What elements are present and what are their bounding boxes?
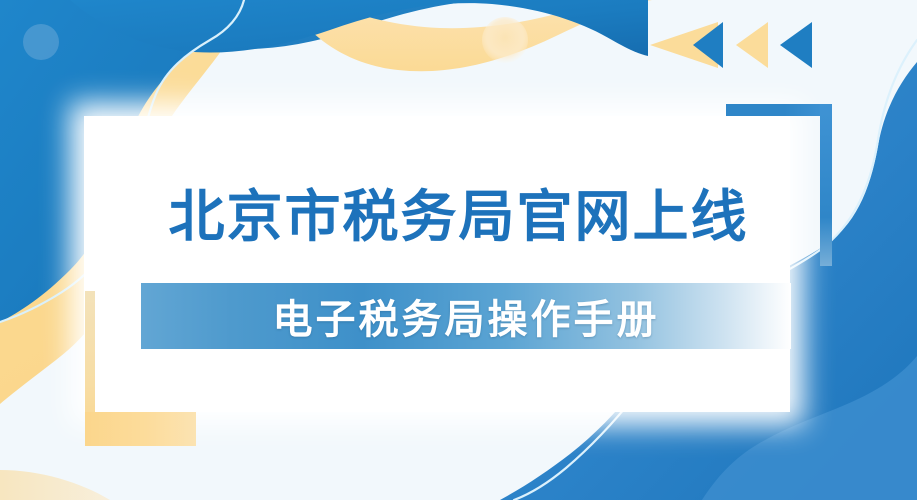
circle-decor-yellow — [482, 17, 528, 63]
content-card — [84, 116, 790, 412]
page-title: 北京市税务局官网上线 — [0, 182, 917, 252]
bracket-yellow-horizontal — [85, 412, 196, 446]
page-subtitle: 电子税务局操作手册 — [141, 283, 791, 349]
poster-canvas: 北京市税务局官网上线 电子税务局操作手册 — [0, 0, 917, 500]
bracket-blue-horizontal — [726, 104, 832, 116]
circle-decor-blue — [23, 24, 59, 60]
